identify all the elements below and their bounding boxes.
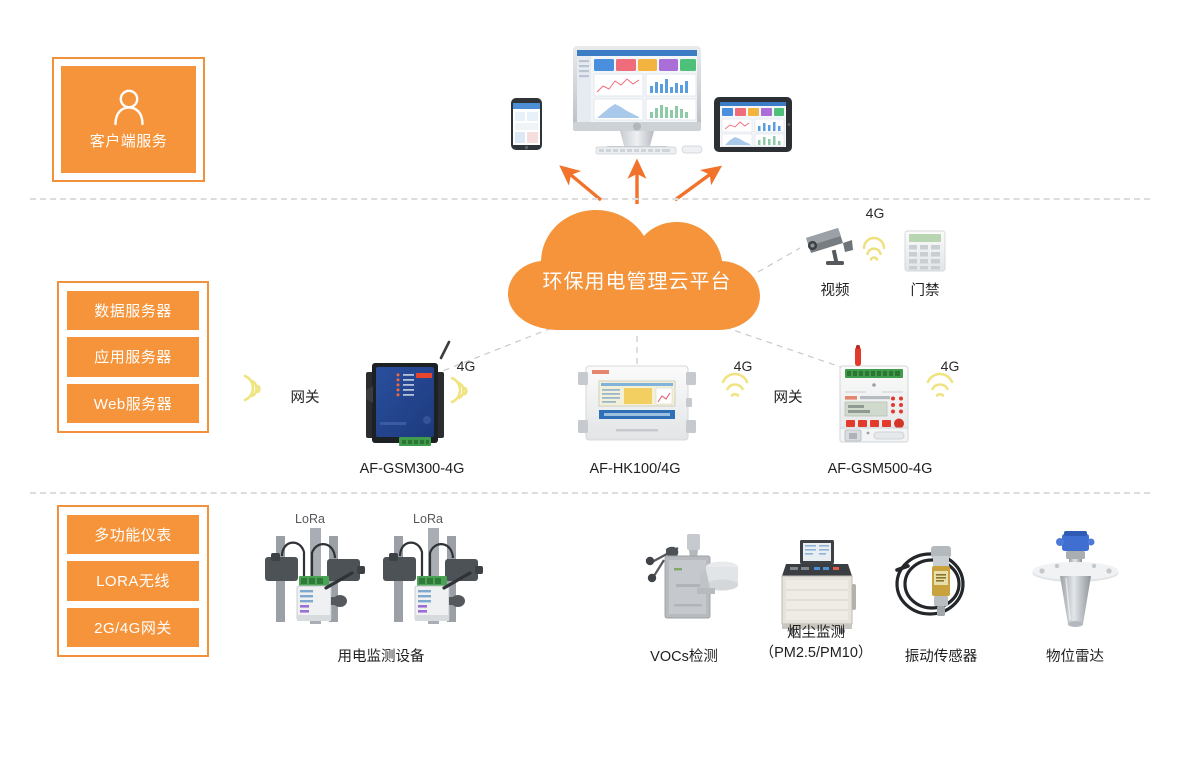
category-client-service[interactable]: 客户端服务 <box>52 57 205 182</box>
category-multifunction-meter[interactable]: 多功能仪表 <box>67 515 199 554</box>
camera-4g-label: 4G <box>866 205 885 221</box>
level-radar-label: 物位雷达 <box>1046 648 1104 668</box>
arrow-cloud-to-phone <box>565 170 601 200</box>
lora-tag-2: LoRa <box>413 512 443 526</box>
video-label: 视频 <box>821 279 850 300</box>
af-gsm500-4g-art <box>840 345 908 442</box>
diagram-canvas: 客户端服务 数据服务器 应用服务器 Web服务器 多功能仪表 LORA无线 2G… <box>0 0 1178 766</box>
dust-monitoring-label: 烟尘监测 （PM2.5/PM10） <box>760 624 873 663</box>
separator-gateway-layer <box>30 492 1150 494</box>
category-server-group[interactable]: 数据服务器 应用服务器 Web服务器 <box>57 281 209 433</box>
vocs-detection-art <box>646 534 738 618</box>
tablet-art <box>714 97 792 152</box>
gsm300-4g-label: 4G <box>457 358 476 374</box>
dust-monitoring-label-line1: 烟尘监测 <box>787 625 845 641</box>
vibration-sensor-art <box>897 546 963 616</box>
level-radar-art <box>1033 531 1119 627</box>
gsm500-model-label: AF-GSM500-4G <box>828 460 933 480</box>
camera-wifi-icon <box>864 238 884 260</box>
access-control-keypad-art <box>905 231 945 271</box>
power-monitoring-unit-2-art <box>383 528 483 624</box>
separator-client-layer <box>30 198 1150 200</box>
category-application-server[interactable]: 应用服务器 <box>67 337 199 376</box>
gsm300-right-wifi-icon <box>452 378 466 402</box>
category-lora-wireless[interactable]: LORA无线 <box>67 561 199 600</box>
dust-monitoring-art <box>782 540 856 634</box>
category-field-device-group[interactable]: 多功能仪表 LORA无线 2G/4G网关 <box>57 505 209 657</box>
vocs-detection-label: VOCs检测 <box>650 648 718 668</box>
lora-tag-1: LoRa <box>295 512 325 526</box>
hk100-4g-label: 4G <box>734 358 753 374</box>
category-client-service-fill: 客户端服务 <box>61 66 196 173</box>
hk100-gateway-label: 网关 <box>774 386 803 407</box>
cloud-platform-label: 环保用电管理云平台 <box>512 203 762 333</box>
arrow-cloud-to-tablet <box>675 170 716 200</box>
cloud-platform[interactable]: 环保用电管理云平台 <box>512 203 762 333</box>
person-icon <box>112 88 146 126</box>
category-2g-4g-gateway[interactable]: 2G/4G网关 <box>67 608 199 647</box>
vibration-sensor-label: 振动传感器 <box>905 648 978 668</box>
gsm300-model-label: AF-GSM300-4G <box>360 460 465 480</box>
gsm300-left-wifi-icon <box>245 376 259 400</box>
hk100-right-wifi-icon <box>723 374 747 395</box>
gsm300-gateway-label: 网关 <box>291 386 320 407</box>
gsm500-right-wifi-icon <box>928 374 952 395</box>
power-monitoring-label: 用电监测设备 <box>338 648 425 668</box>
category-web-server[interactable]: Web服务器 <box>67 384 199 423</box>
af-gsm300-4g-art <box>366 342 449 446</box>
power-monitoring-unit-1-art <box>265 528 365 624</box>
hk100-model-label: AF-HK100/4G <box>589 460 680 480</box>
video-camera-art <box>806 228 853 265</box>
dust-monitoring-label-line2: （PM2.5/PM10） <box>760 645 873 661</box>
category-data-server[interactable]: 数据服务器 <box>67 291 199 330</box>
af-hk100-4g-art <box>578 366 696 440</box>
category-client-service-label: 客户端服务 <box>90 130 168 151</box>
desktop-monitor-art <box>573 46 702 154</box>
connector-cloud-to-video <box>758 248 800 272</box>
access-control-label: 门禁 <box>911 279 940 300</box>
smartphone-art <box>511 98 542 150</box>
gsm500-4g-label: 4G <box>941 358 960 374</box>
